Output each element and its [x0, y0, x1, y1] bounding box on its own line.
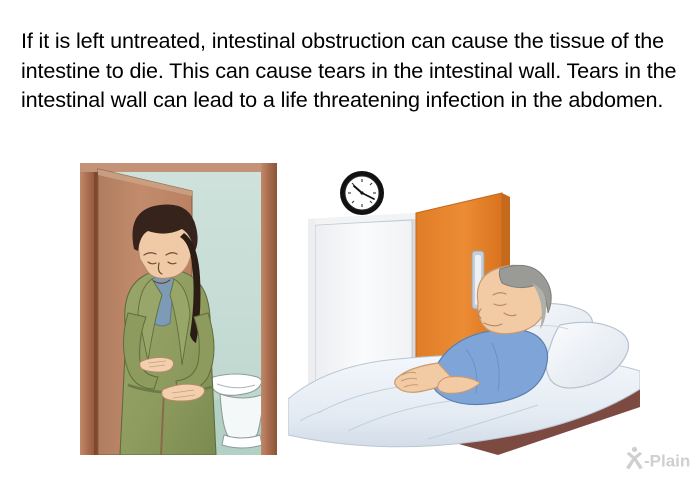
slide-canvas: If it is left untreated, intestinal obst…	[0, 0, 700, 480]
door-frame-right	[261, 163, 277, 455]
slide-body-text: If it is left untreated, intestinal obst…	[21, 26, 683, 115]
xplain-logo-text: -Plain	[644, 452, 690, 471]
xplain-figure-icon	[626, 447, 643, 470]
wall-clock	[340, 171, 384, 215]
woman-hand-upper	[140, 357, 174, 372]
door-frame-header	[80, 163, 277, 172]
xplain-logo: -Plain	[618, 446, 694, 472]
illustration-man-hospital-bed	[288, 163, 640, 455]
illustration-woman-bathroom	[80, 163, 277, 455]
